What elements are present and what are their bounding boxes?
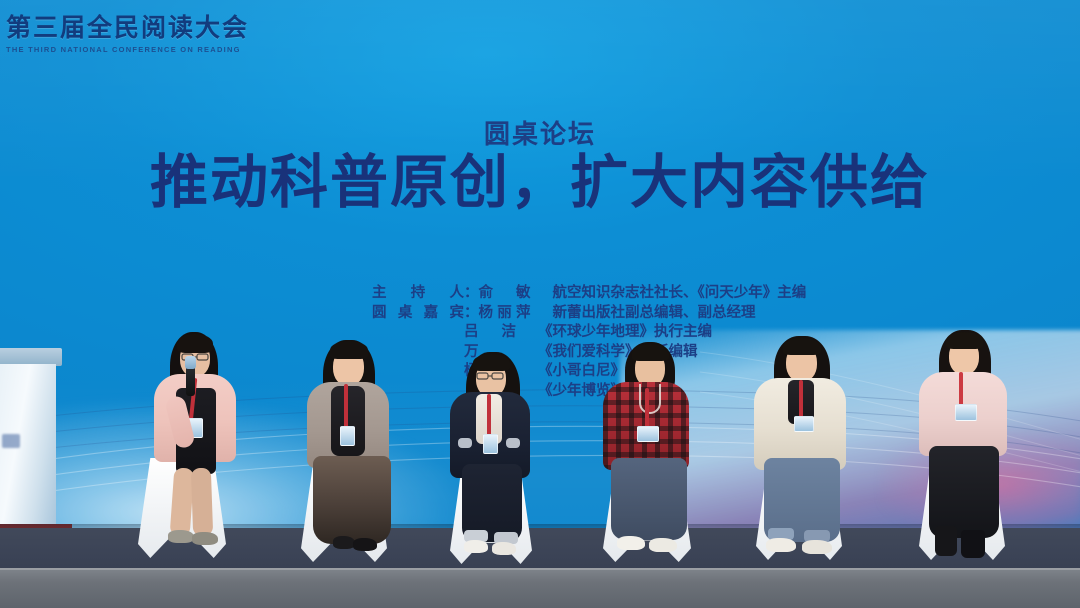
- panelist-1-shoe: [192, 532, 218, 545]
- roster-row: 主持人 ： 俞敏 航空知识杂志社社长、《问天少年》主编: [372, 284, 892, 304]
- forum-main-title: 推动科普原创，扩大内容供给: [0, 152, 1080, 215]
- panelist-3-badge: [483, 434, 498, 454]
- roster-separator: ：: [464, 304, 479, 324]
- panelist-2-badge: [340, 426, 355, 446]
- panelist-1: [128, 330, 258, 562]
- panelist-2: [295, 338, 415, 564]
- panelist-2-shoe: [353, 538, 377, 551]
- panelist-6-badge: [955, 404, 977, 421]
- podium-emblem: [2, 434, 20, 448]
- panelist-6-boot: [961, 530, 985, 558]
- stage-front-edge: [0, 568, 1080, 608]
- speaking-podium: [0, 348, 62, 553]
- roster-name: 杨丽萍: [479, 304, 531, 324]
- panelist-2-shoe: [333, 536, 355, 549]
- panelist-4: [595, 340, 721, 562]
- panelist-6-trousers: [929, 446, 999, 538]
- panelist-6-boot: [935, 526, 957, 556]
- panelist-1-leg: [191, 468, 213, 537]
- panelist-2-hair-front: [330, 341, 368, 359]
- panelist-5-lanyard: [799, 380, 803, 420]
- panelist-3-lanyard: [487, 394, 491, 438]
- panelist-3-glasses-icon: [476, 371, 505, 381]
- conference-logo: 第三届全民阅读大会 THE THIRD NATIONAL CONFERENCE …: [6, 16, 236, 54]
- roster-title: 航空知识杂志社社长、《问天少年》主编: [553, 284, 807, 304]
- panelist-5-badge: [794, 416, 814, 432]
- roster-name: 吕洁: [464, 323, 516, 343]
- podium-body: [0, 364, 56, 524]
- panelist-3-cuff: [458, 438, 472, 448]
- panelist-3-shoe: [492, 542, 516, 555]
- panelist-2-lanyard: [344, 384, 348, 430]
- panelist-4-jeans: [611, 458, 687, 540]
- panelist-1-shoe: [168, 530, 194, 543]
- roster-role: 圆桌嘉宾: [372, 304, 464, 324]
- panelist-4-badge: [637, 426, 659, 442]
- roster-row: 圆桌嘉宾 ： 杨丽萍 新蕾出版社副总编辑、副总经理: [372, 304, 892, 324]
- panelist-1-hair-front: [177, 334, 213, 353]
- roster-separator: ：: [464, 284, 479, 304]
- microphone-flag: [185, 356, 196, 369]
- panelist-3-hair-front: [473, 354, 510, 371]
- panelist-4-hair-front: [632, 344, 669, 361]
- panelist-3-cuff: [506, 438, 520, 448]
- panelist-5: [742, 336, 872, 564]
- panelist-3-shoe: [464, 540, 488, 553]
- roster-name: 俞敏: [479, 284, 531, 304]
- panelist-6-hair-front: [946, 332, 983, 349]
- panelist-4-hood-string: [639, 384, 661, 414]
- panelist-5-sneaker: [766, 538, 796, 552]
- roster-role: 主持人: [372, 284, 464, 304]
- logo-chinese-title: 第三届全民阅读大会: [6, 16, 236, 42]
- panelist-4-shoe: [617, 536, 645, 550]
- panelist-5-sneaker: [802, 540, 832, 554]
- forum-section-label: 圆桌论坛: [0, 114, 1080, 151]
- panelist-5-hair-front: [783, 338, 821, 355]
- panelist-4-lanyard: [645, 388, 649, 430]
- panelist-6-lanyard: [959, 372, 963, 408]
- panelist-3: [440, 352, 558, 564]
- logo-english-subtitle: THE THIRD NATIONAL CONFERENCE ON READING: [6, 45, 236, 54]
- panelist-4-shoe: [649, 538, 677, 552]
- conference-stage-photo: 第三届全民阅读大会 THE THIRD NATIONAL CONFERENCE …: [0, 0, 1080, 608]
- panelist-2-skirt: [313, 456, 391, 544]
- roster-title: 新蕾出版社副总编辑、副总经理: [553, 304, 756, 324]
- panelist-6: [905, 330, 1033, 564]
